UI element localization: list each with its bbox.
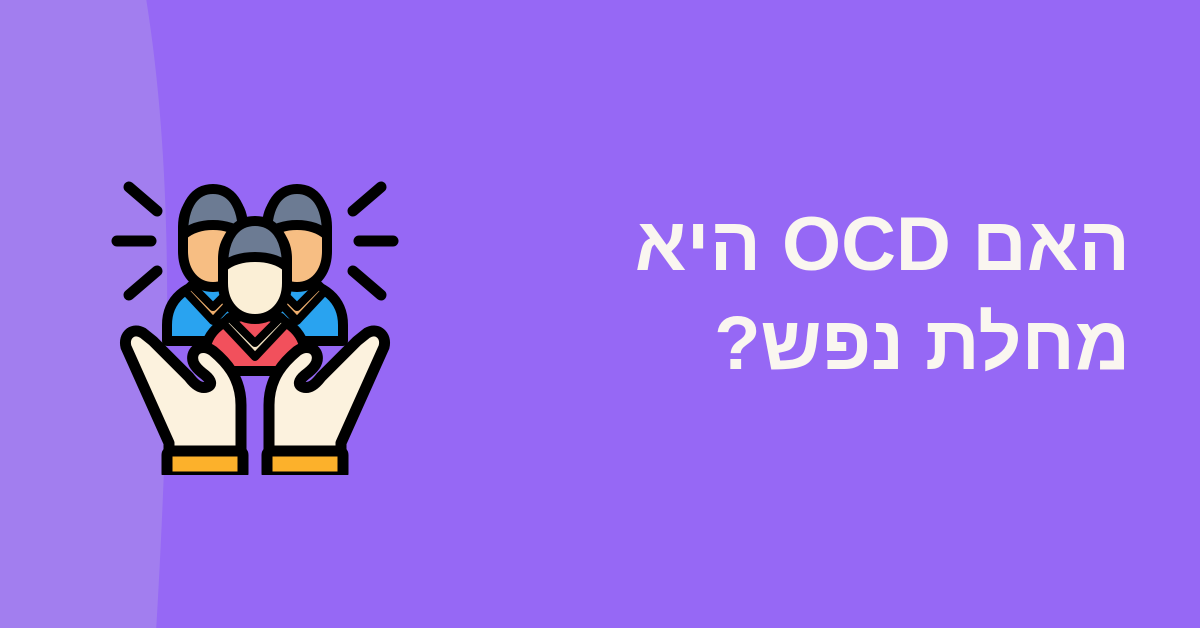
shine-lines-left [117, 187, 157, 295]
headline-line-1: האם OCD היא [470, 196, 1130, 295]
social-card: האם OCD היא מחלת נפש? [0, 0, 1200, 628]
people-in-caring-hands-illustration [95, 155, 415, 475]
page-title: האם OCD היא מחלת נפש? [470, 196, 1130, 394]
shine-lines-right [353, 187, 393, 295]
headline-line-2: מחלת נפש? [470, 295, 1130, 394]
